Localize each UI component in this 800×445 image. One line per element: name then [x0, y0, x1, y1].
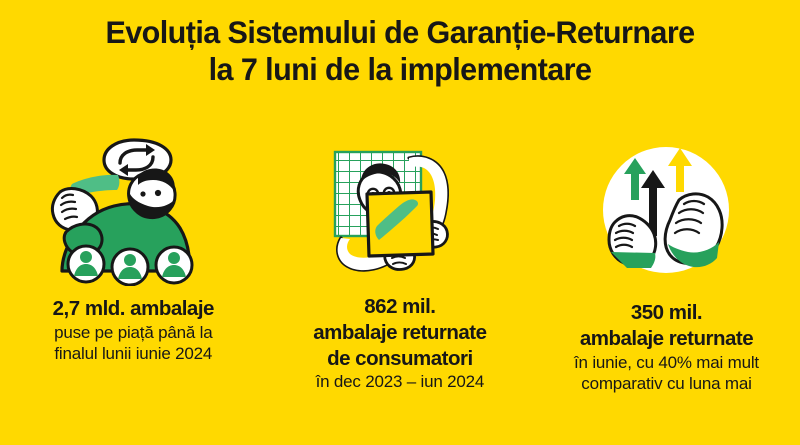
infographic-poster: Evoluția Sistemului de Garanție-Returnar… — [0, 0, 800, 445]
stat-line: puse pe piață până la — [0, 322, 267, 343]
stat-line: ambalaje returnate — [533, 326, 800, 352]
hands-holding-up-arrows-illustration — [571, 140, 761, 290]
carried-box-icon — [367, 192, 433, 256]
title-line-2: la 7 luni de la implementare — [12, 51, 788, 88]
stat-line: finalul lunii iunie 2024 — [0, 343, 267, 364]
stat-column-3: 350 mil. ambalaje returnate în iunie, cu… — [533, 136, 800, 436]
stat-line: în dec 2023 – iun 2024 — [267, 371, 534, 392]
stat-line: 862 mil. — [267, 294, 534, 320]
hand-icon-left — [609, 216, 656, 268]
stat-text-3: 350 mil. ambalaje returnate în iunie, cu… — [533, 300, 800, 394]
title-line-1: Evoluția Sistemului de Garanție-Returnar… — [12, 14, 788, 51]
stat-text-1: 2,7 mld. ambalaje puse pe piață până la … — [0, 296, 267, 365]
page-title: Evoluția Sistemului de Garanție-Returnar… — [0, 14, 800, 87]
stat-column-1: 2,7 mld. ambalaje puse pe piață până la … — [0, 136, 267, 436]
stat-line: 350 mil. — [533, 300, 800, 326]
people-avatars-icon — [68, 246, 192, 285]
stats-columns: 2,7 mld. ambalaje puse pe piață până la … — [0, 136, 800, 436]
stat-line: comparativ cu luna mai — [533, 373, 800, 394]
stat-line: 2,7 mld. ambalaje — [0, 296, 267, 322]
stat-line: în iunie, cu 40% mai mult — [533, 352, 800, 373]
stat-line: de consumatori — [267, 346, 534, 372]
stat-text-2: 862 mil. ambalaje returnate de consumato… — [267, 294, 534, 393]
person-returning-bottle-illustration — [38, 136, 228, 286]
stat-line: ambalaje returnate — [267, 320, 534, 346]
person-carrying-crate-illustration — [305, 138, 495, 288]
stat-column-2: 862 mil. ambalaje returnate de consumato… — [267, 136, 534, 436]
